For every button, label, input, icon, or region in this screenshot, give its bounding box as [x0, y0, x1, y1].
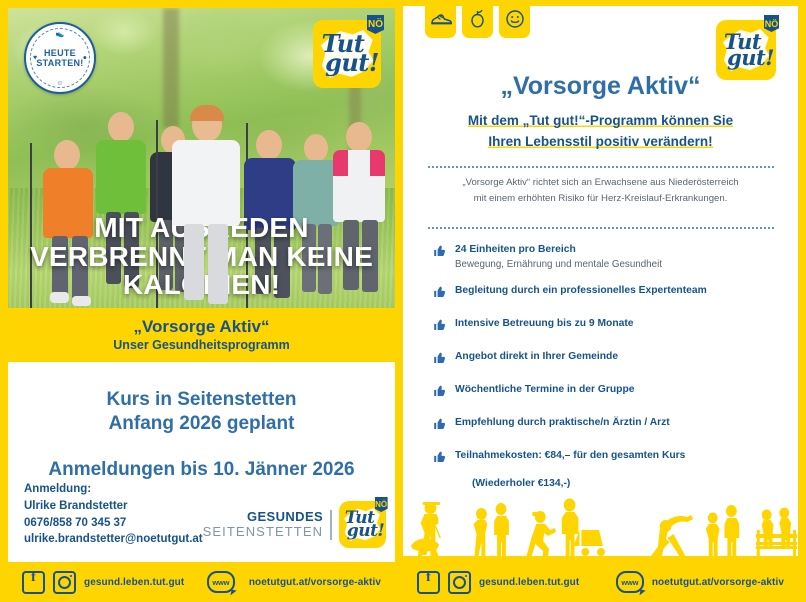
program-subtitle: Unser Gesundheitsprogramm — [8, 338, 395, 352]
repeat-price-note: (Wiederholer €134,-) — [433, 478, 798, 489]
hero-photo: 👟 ● ☺ ♥ HEUTE STARTEN! Tut gut! NÖ MIT A… — [8, 8, 395, 308]
list-item-subtext: Bewegung, Ernährung und mentale Gesundhe… — [455, 259, 662, 270]
right-subtitle-line-2: Ihren Lebensstil positiv verändern! — [488, 134, 712, 149]
logo-divider — [330, 510, 332, 540]
contact-block: Anmeldung: Ulrike Brandstetter 0676/858 … — [24, 481, 203, 548]
social-handle: gesund.leben.tut.gut — [479, 577, 579, 588]
badge-line-2: STARTEN! — [36, 58, 83, 68]
badge-line-1: HEUTE — [36, 48, 83, 58]
list-item-text: 24 Einheiten pro Bereich — [455, 243, 662, 257]
shoe-mini-icon: 👟 — [56, 30, 65, 38]
www-icon: www — [207, 571, 235, 593]
badge-text: HEUTE STARTEN! — [36, 48, 83, 68]
program-title: „Vorsorge Aktiv“ — [8, 317, 395, 337]
left-panel: 👟 ● ☺ ♥ HEUTE STARTEN! Tut gut! NÖ MIT A… — [0, 0, 403, 602]
right-panel: Tut gut! NÖ „Vorsorge Aktiv“ Mit dem „Tu… — [403, 0, 806, 602]
contact-label: Anmeldung: — [24, 481, 203, 498]
left-footer: gesund.leben.tut.gut www noetutgut.at/vo… — [8, 562, 395, 602]
benefits-list: 24 Einheiten pro Bereich Bewegung, Ernäh… — [403, 229, 798, 490]
heute-starten-badge: 👟 ● ☺ ♥ HEUTE STARTEN! — [24, 22, 96, 94]
website-group: www noetutgut.at/vorsorge-aktiv — [616, 571, 784, 593]
partner-word-1: GESUNDES — [203, 510, 323, 524]
contact-phone[interactable]: 0676/858 70 345 37 — [24, 515, 203, 532]
poster: 👟 ● ☺ ♥ HEUTE STARTEN! Tut gut! NÖ MIT A… — [0, 0, 806, 602]
contact-row: Anmeldung: Ulrike Brandstetter 0676/858 … — [24, 481, 379, 552]
facebook-icon[interactable] — [417, 571, 440, 594]
list-item: Empfehlung durch praktische/n Ärztin / A… — [433, 416, 798, 435]
tut-gut-logo: Tut gut! NÖ — [313, 20, 381, 88]
partner-word-2: SEITENSTETTEN — [203, 525, 323, 539]
facebook-icon[interactable] — [22, 571, 45, 594]
list-item: Wöchentliche Termine in der Gruppe — [433, 383, 798, 402]
list-item: Begleitung durch ein professionelles Exp… — [433, 284, 798, 303]
social-group: gesund.leben.tut.gut — [417, 571, 579, 594]
thumbs-up-icon — [433, 318, 446, 336]
list-item-text: Empfehlung durch praktische/n Ärztin / A… — [455, 416, 670, 430]
tut-gut-line-2: gut! — [325, 53, 379, 74]
registration-deadline: Anmeldungen bis 10. Jänner 2026 — [24, 459, 379, 481]
contact-email[interactable]: ulrike.brandstetter@noetutgut.at — [24, 531, 203, 548]
right-subtitle: Mit dem „Tut gut!“-Programm können Sie I… — [403, 111, 798, 153]
thumbs-up-icon — [433, 417, 446, 435]
list-item-text: Teilnahmekosten: €84,– für den gesamten … — [455, 449, 685, 463]
thumbs-up-icon — [433, 450, 446, 468]
course-line-2: Anfang 2026 geplant — [24, 412, 379, 436]
list-item: Angebot direkt in Ihrer Gemeinde — [433, 350, 798, 369]
description-line-1: „Vorsorge Aktiv“ richtet sich an Erwachs… — [429, 175, 772, 191]
tut-gut-line-2: gut! — [727, 49, 774, 67]
contact-name: Ulrike Brandstetter — [24, 498, 203, 515]
program-band: „Vorsorge Aktiv“ Unser Gesundheitsprogra… — [8, 308, 395, 362]
right-description: „Vorsorge Aktiv“ richtet sich an Erwachs… — [403, 168, 798, 214]
running-shoe-icon — [425, 6, 456, 38]
list-item: Teilnahmekosten: €84,– für den gesamten … — [433, 449, 798, 468]
description-line-2: mit einem erhöhten Risiko für Herz-Kreis… — [429, 191, 772, 207]
social-handle: gesund.leben.tut.gut — [84, 577, 184, 588]
left-content-box: Kurs in Seitenstetten Anfang 2026 geplan… — [8, 362, 395, 562]
walker-person-4 — [168, 108, 244, 308]
right-content: Tut gut! NÖ „Vorsorge Aktiv“ Mit dem „Tu… — [403, 6, 798, 562]
instagram-icon[interactable] — [448, 571, 471, 594]
instagram-icon[interactable] — [53, 571, 76, 594]
tut-gut-line-2: gut! — [347, 524, 385, 539]
list-item: 24 Einheiten pro Bereich Bewegung, Ernäh… — [433, 243, 798, 271]
tut-gut-logo: Tut gut! NÖ — [716, 20, 776, 80]
thumbs-up-icon — [433, 244, 446, 262]
website-url[interactable]: noetutgut.at/vorsorge-aktiv — [249, 577, 381, 588]
list-item-text: Angebot direkt in Ihrer Gemeinde — [455, 350, 618, 364]
right-subtitle-line-1: Mit dem „Tut gut!“-Programm können Sie — [468, 113, 733, 128]
tut-gut-logo-small: Tut gut! NÖ — [339, 501, 386, 548]
apple-icon — [462, 6, 493, 38]
list-item-text: Wöchentliche Termine in der Gruppe — [455, 383, 634, 397]
website-url[interactable]: noetutgut.at/vorsorge-aktiv — [652, 577, 784, 588]
thumbs-up-icon — [433, 351, 446, 369]
course-info: Kurs in Seitenstetten Anfang 2026 geplan… — [24, 388, 379, 437]
right-footer: gesund.leben.tut.gut www noetutgut.at/vo… — [403, 562, 798, 602]
list-item-text: Begleitung durch ein professionelles Exp… — [455, 284, 707, 298]
thumbs-up-icon — [433, 384, 446, 402]
activity-silhouettes — [403, 490, 798, 562]
smiley-icon — [499, 6, 530, 38]
partner-words: GESUNDES SEITENSTETTEN — [203, 510, 323, 538]
smiley-mini-icon: ☺ — [56, 80, 63, 87]
www-icon: www — [616, 571, 644, 593]
list-item: Intensive Betreuung bis zu 9 Monate — [433, 317, 798, 336]
gesundes-seitenstetten-logo: GESUNDES SEITENSTETTEN Tut gut! NÖ — [203, 501, 386, 548]
list-item-text: Intensive Betreuung bis zu 9 Monate — [455, 317, 634, 331]
course-line-1: Kurs in Seitenstetten — [24, 388, 379, 412]
thumbs-up-icon — [433, 285, 446, 303]
